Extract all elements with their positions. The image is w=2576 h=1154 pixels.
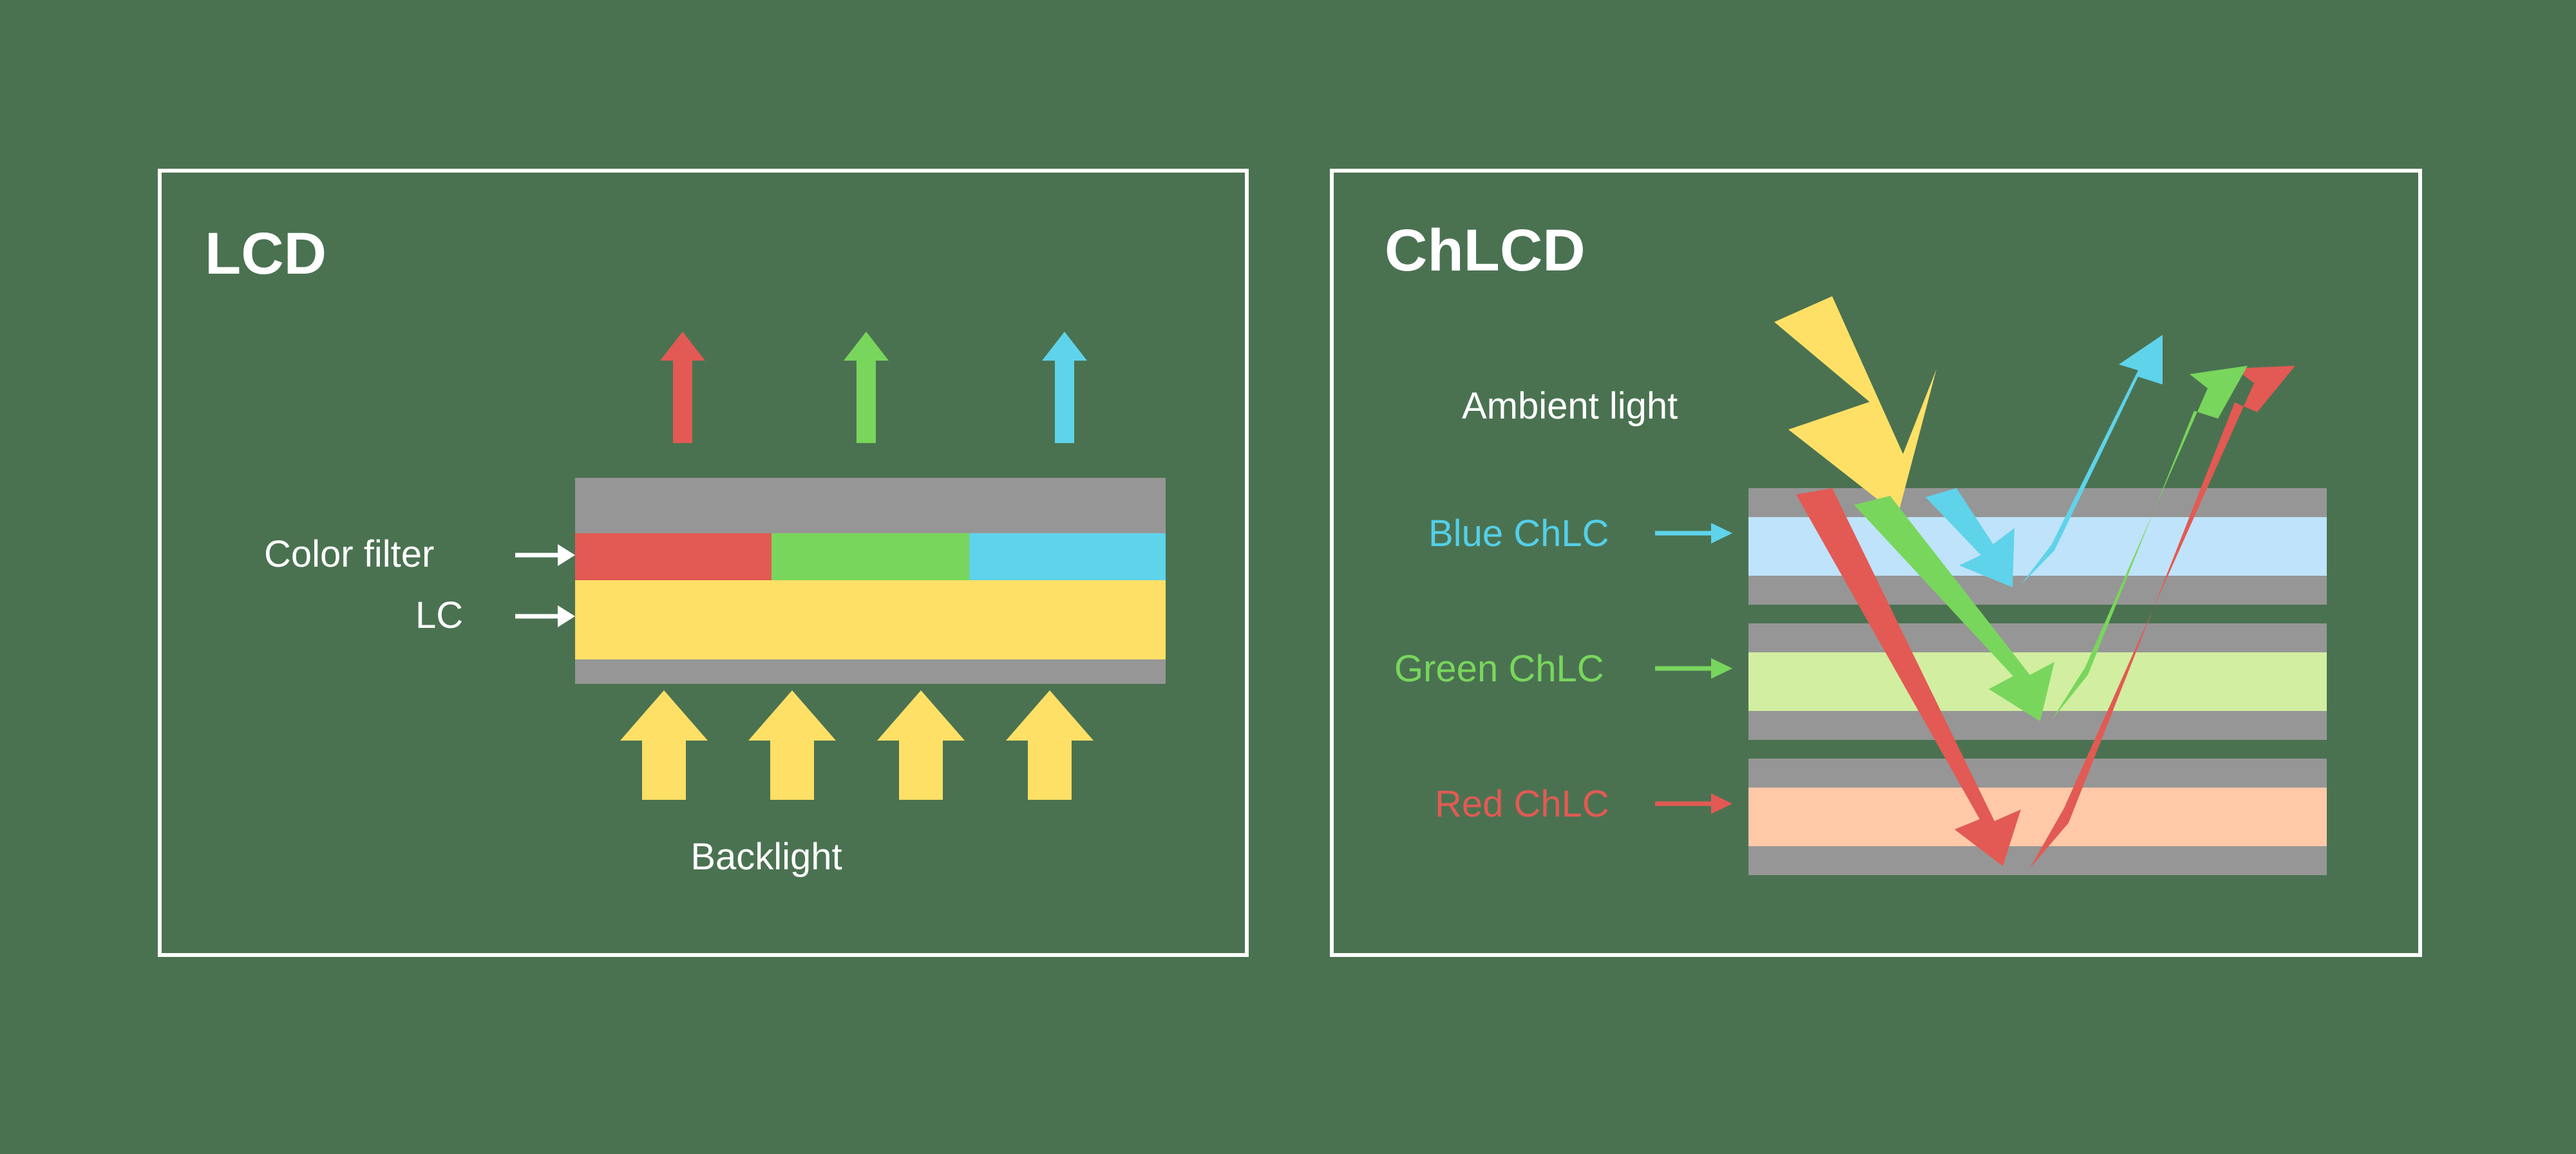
blue-cell-bottom-electrode — [1748, 576, 2327, 605]
lcd-top-glass-layer — [575, 478, 1166, 533]
lcd-panel-title: LCD — [205, 221, 327, 287]
blue-chlc-label: Blue ChLC — [1428, 513, 1609, 554]
lcd-emitted-arrows — [660, 332, 1087, 443]
ambient-light-arrow — [1774, 296, 1937, 515]
green-cell-top-electrode — [1748, 623, 2327, 652]
panel-lcd: LCD Color filter LC — [160, 171, 1247, 955]
panel-chlcd: ChLCD Ambient light — [1332, 171, 2420, 955]
lcd-color-filter-blue — [969, 533, 1166, 580]
color-filter-label: Color filter — [264, 533, 434, 575]
backlight-arrow-4 — [1006, 690, 1094, 800]
lcd-liquid-crystal-layer — [575, 580, 1166, 659]
red-chlc-layer — [1748, 788, 2327, 846]
green-chlc-arrow-icon — [1711, 658, 1732, 679]
green-chlc-label-group: Green ChLC — [1394, 648, 1732, 690]
backlight-arrow-2 — [748, 690, 836, 800]
red-chlc-label: Red ChLC — [1435, 783, 1609, 825]
lcd-layer-stack — [575, 478, 1166, 684]
lcd-lc-label-group: LC — [415, 594, 575, 636]
green-chlc-label: Green ChLC — [1394, 648, 1604, 690]
red-chlc-label-group: Red ChLC — [1435, 783, 1732, 825]
backlight-label: Backlight — [690, 836, 842, 878]
lcd-bottom-glass-layer — [575, 659, 1166, 684]
blue-chlc-arrow-icon — [1711, 523, 1732, 544]
red-cell-bottom-electrode — [1748, 846, 2327, 875]
red-chlc-arrow-icon — [1711, 793, 1732, 814]
blue-chlc-label-group: Blue ChLC — [1428, 513, 1732, 554]
lcd-color-filter-green — [772, 533, 969, 580]
red-output-arrow — [660, 332, 705, 443]
color-filter-arrow-icon — [558, 544, 575, 566]
lcd-color-filter-label-group: Color filter — [264, 533, 575, 575]
chlcd-panel-title: ChLCD — [1385, 218, 1586, 283]
lcd-color-filter-red — [575, 533, 772, 580]
lc-label: LC — [415, 594, 463, 636]
diagram-canvas: LCD Color filter LC — [0, 0, 2576, 1154]
backlight-arrow-1 — [620, 690, 708, 800]
backlight-arrow-3 — [877, 690, 965, 800]
lcd-backlight-arrows: Backlight — [620, 690, 1094, 878]
ambient-light-label: Ambient light — [1462, 385, 1678, 427]
lc-arrow-icon — [558, 605, 575, 627]
red-cell-top-electrode — [1748, 759, 2327, 788]
lcd-vs-chlcd-diagram: LCD Color filter LC — [0, 0, 2576, 1154]
blue-output-arrow — [1042, 332, 1087, 443]
green-output-arrow — [844, 332, 889, 443]
